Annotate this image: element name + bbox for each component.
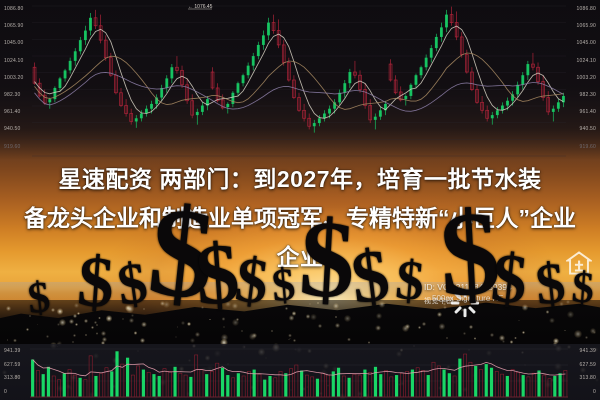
bokeh-spark [522,331,525,334]
headline-line-2: 备龙头企业和制造业单项冠军、专精特新“小巨人”企业 [0,199,600,238]
candlestick-chart-overlay: 1086.801065.901045.001024.101003.20982.3… [0,0,600,160]
bokeh-spark [134,331,137,334]
bokeh-spark [376,326,381,331]
volume-tick-left: 627.59 [4,362,21,368]
dollar-sign-silhouette: $ [489,246,530,312]
volume-tick-right: 313.80 [580,375,597,381]
bokeh-spark [347,338,350,341]
bokeh-spark [418,326,420,328]
candlestick-plot [0,0,600,160]
bokeh-spark [6,306,11,311]
dollar-sign-silhouette: $ [394,255,426,308]
bokeh-spark [437,312,442,317]
price-annotation: ← 1076.45 [188,4,212,10]
bokeh-spark [13,339,16,342]
price-tick-right: 1045.00 [577,40,596,46]
price-tick-left: 1003.20 [4,75,23,81]
price-tick-left: 982.30 [4,92,21,98]
price-tick-left: 1024.10 [4,58,23,64]
volume-tick-left: 313.80 [4,375,21,381]
price-tick-right: 1065.90 [577,23,596,29]
volume-plot [0,344,600,400]
dollar-sign-silhouette: $ [76,249,116,316]
bokeh-spark [122,318,124,320]
bokeh-spark [190,338,195,343]
headline-line-1: 星速配资 两部门：到2027年，培育一批节水装 [0,160,600,199]
dollar-sign-silhouette: $ [533,257,567,312]
bokeh-spark [318,324,322,328]
dollar-sign-silhouette: $ [297,209,357,311]
price-tick-right: 961.40 [580,109,597,115]
price-tick-left: 919.60 [4,144,21,150]
volume-tick-left: 0 [4,389,7,395]
volume-tick-right: 627.59 [580,362,597,368]
bokeh-spark [518,320,519,321]
price-tick-right: 940.50 [580,126,597,132]
bokeh-spark [96,332,98,334]
bokeh-spark [405,324,410,329]
bokeh-spark [85,334,87,336]
bokeh-spark [439,323,445,329]
bokeh-spark [129,318,134,323]
bokeh-spark [585,336,588,339]
volume-tick-left: 941.39 [4,348,21,354]
price-tick-right: 1024.10 [577,58,596,64]
bokeh-spark [51,308,55,312]
bokeh-spark [422,322,426,326]
bokeh-spark [574,330,582,338]
bokeh-spark [293,339,296,342]
price-tick-left: 940.50 [4,126,21,132]
price-tick-right: 919.60 [580,144,597,150]
price-tick-right: 982.30 [580,92,597,98]
volume-chart-overlay: 941.39627.59313.800 941.39627.59313.800 [0,344,600,400]
price-tick-left: 1086.80 [4,6,23,12]
price-tick-right: 1086.80 [577,6,596,12]
dollar-sign-silhouette: $ [348,242,393,313]
bokeh-spark [96,324,98,326]
bokeh-spark [288,334,291,337]
price-tick-right: 1003.20 [577,75,596,81]
stock-photo-canvas: $$$$$$$$$$$$$$ 1086.801065.901045.001024… [0,0,600,400]
price-tick-left: 1045.00 [4,40,23,46]
dollar-sign-silhouette: $ [270,263,297,306]
dollar-sign-silhouette: $ [571,267,596,308]
bokeh-spark [69,319,74,324]
volume-tick-right: 941.39 [580,348,597,354]
volume-tick-right: 0 [593,389,596,395]
bokeh-spark [514,337,516,339]
price-tick-left: 1065.90 [4,23,23,29]
bokeh-spark [57,308,64,315]
price-tick-left: 961.40 [4,109,21,115]
bokeh-spark [446,337,448,339]
dollar-sign-silhouette: $ [26,277,52,319]
